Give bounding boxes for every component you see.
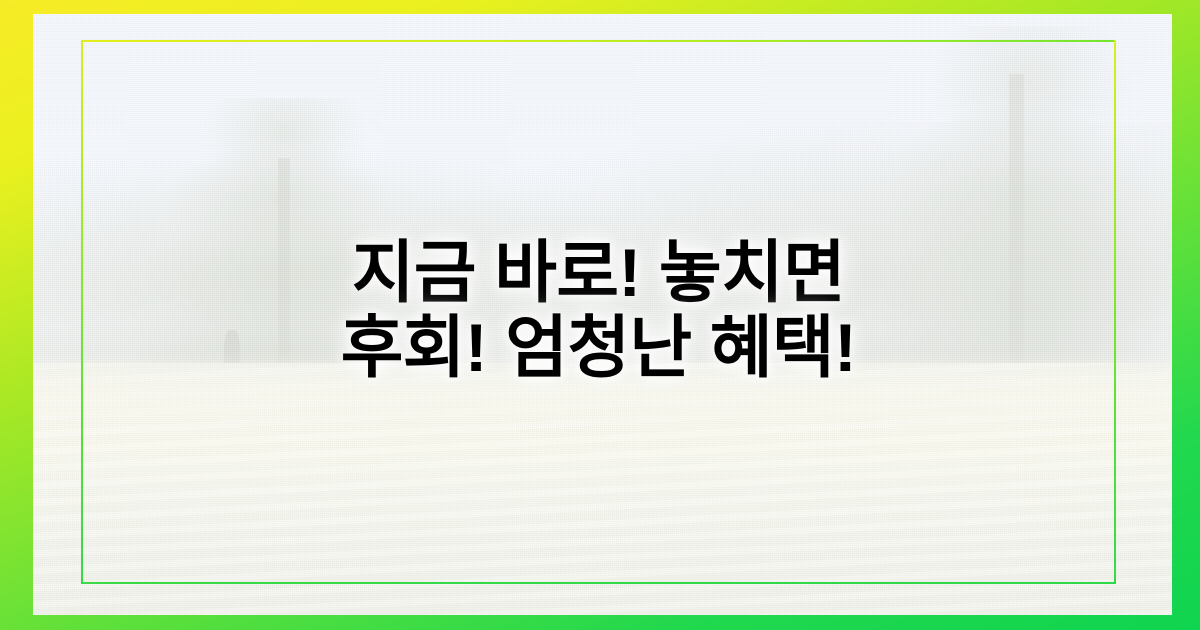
- promo-banner: 지금 바로! 놓치면 후회! 엄청난 혜택!: [0, 0, 1200, 630]
- headline-line-1: 지금 바로! 놓치면: [81, 236, 1116, 311]
- headline-block: 지금 바로! 놓치면 후회! 엄청난 혜택!: [81, 236, 1116, 386]
- headline-line-2: 후회! 엄청난 혜택!: [81, 311, 1116, 386]
